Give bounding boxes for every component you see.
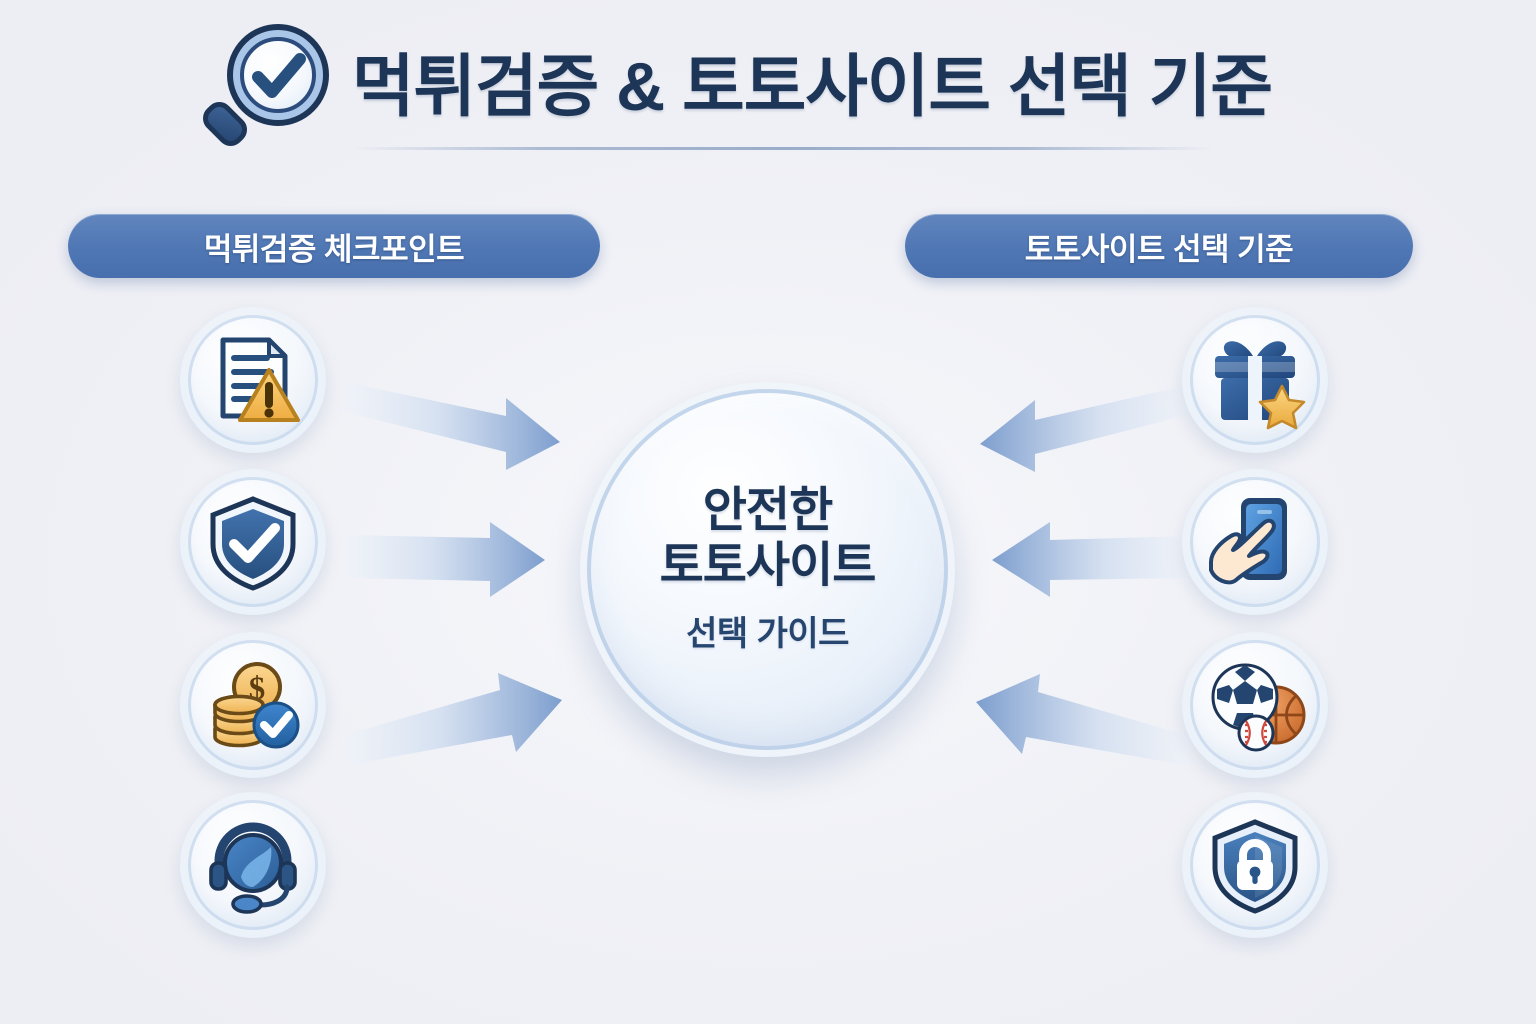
shield-check-icon xyxy=(201,490,305,594)
right-group-header-pill[interactable]: 토토사이트 선택 기준 xyxy=(905,214,1413,278)
gift-star-icon xyxy=(1203,328,1307,432)
center-line-1: 안전한 xyxy=(703,484,832,539)
right-item-1[interactable] xyxy=(1182,307,1328,453)
left-item-4[interactable] xyxy=(180,792,326,938)
magnifier-check-icon xyxy=(196,19,336,159)
left-group-header-pill[interactable]: 먹튀검증 체크포인트 xyxy=(68,214,600,278)
arrow-left-1 xyxy=(345,382,560,470)
headset-support-icon xyxy=(201,813,305,917)
left-item-1[interactable] xyxy=(180,307,326,453)
center-node[interactable]: 안전한 토토사이트 선택 가이드 xyxy=(580,382,955,757)
center-line-2: 토토사이트 xyxy=(660,539,876,594)
arrow-right-2 xyxy=(992,522,1192,597)
arrow-right-1 xyxy=(980,384,1192,472)
hand-tap-smartphone-icon xyxy=(1203,490,1307,594)
arrow-left-2 xyxy=(345,522,545,597)
title-divider xyxy=(352,147,1214,150)
right-group-label: 토토사이트 선택 기준 xyxy=(1025,224,1293,269)
left-item-3[interactable]: $ xyxy=(180,632,326,778)
page-title: 먹튀검증 & 토토사이트 선택 기준 xyxy=(352,53,1272,121)
left-group-label: 먹튀검증 체크포인트 xyxy=(204,224,464,269)
document-warning-icon xyxy=(201,328,305,432)
arrow-left-3 xyxy=(345,673,562,765)
shield-lock-icon xyxy=(1203,813,1307,917)
infographic-canvas: 먹튀검증 & 토토사이트 선택 기준 먹튀검증 체크포인트 토토사이트 선택 기… xyxy=(0,0,1536,1024)
right-item-2[interactable] xyxy=(1182,469,1328,615)
arrow-right-3 xyxy=(976,674,1192,766)
sports-balls-icon xyxy=(1203,653,1307,757)
header: 먹튀검증 & 토토사이트 선택 기준 xyxy=(196,22,1256,152)
left-item-2[interactable] xyxy=(180,469,326,615)
right-item-4[interactable] xyxy=(1182,792,1328,938)
coins-dollar-check-icon: $ xyxy=(201,653,305,757)
right-item-3[interactable] xyxy=(1182,632,1328,778)
center-line-3: 선택 가이드 xyxy=(686,606,849,655)
